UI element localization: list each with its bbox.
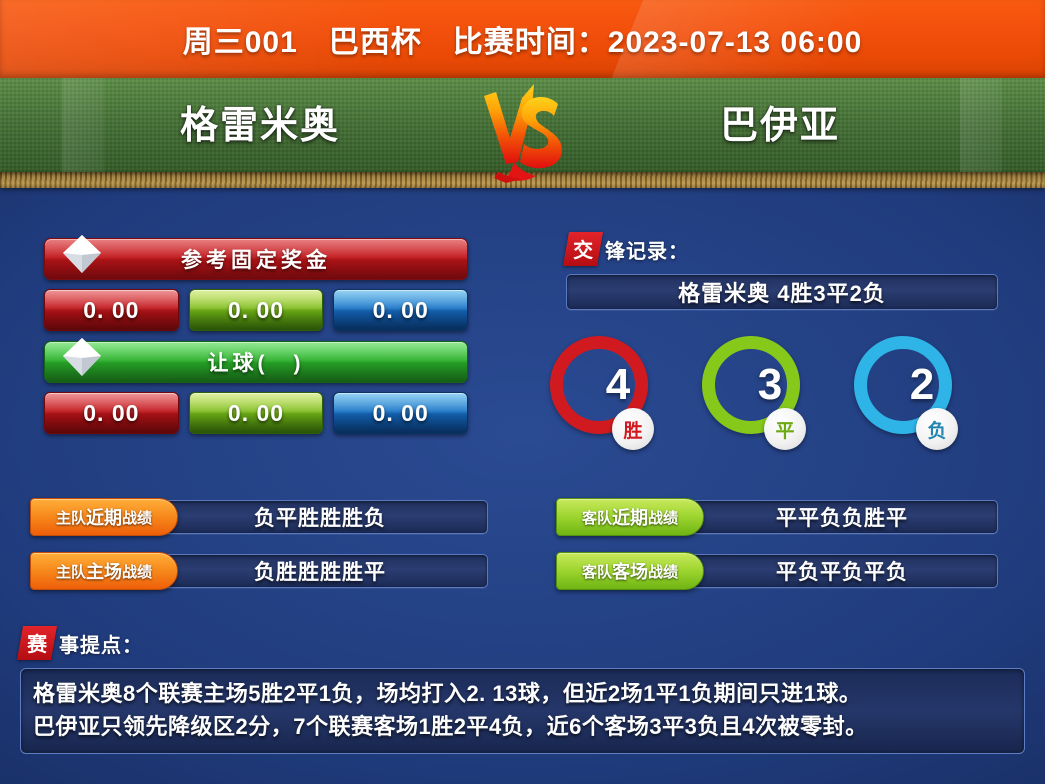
pitch-stripe-right [960,78,1002,172]
fixed-odds-row: 0. 00 0. 00 0. 00 [44,289,468,331]
away-recent-form-value: 平平负负胜平 [686,500,998,534]
home-venue-tag-prefix: 主队 [56,561,86,582]
h2h-rings: 4 胜 3 平 2 负 [540,336,1020,466]
home-recent-tag-suffix: 战绩 [122,507,152,528]
analysis-line-2: 巴伊亚只领先降级区2分，7个联赛客场1胜2平4负，近6个客场3平3负且4次被零封… [33,710,1012,743]
handicap-odds-title: 让球( ) [208,347,305,377]
analysis-section-text: 事提点： [59,629,143,658]
ring-badge-draw: 平 [764,408,806,450]
handicap-odds-header: 让球( ) [44,341,468,383]
home-team-name: 格雷米奥 [130,96,390,156]
away-venue-form-value: 平负平负平负 [686,554,998,588]
home-recent-tag-prefix: 主队 [56,507,86,528]
h2h-ring-draw: 3 平 [702,336,810,444]
home-venue-form-tag: 主队主场战绩 [30,552,178,590]
page-title: 周三001 巴西杯 比赛时间：2023-07-13 06:00 [183,17,863,61]
odds-panel: 参考固定奖金 0. 00 0. 00 0. 00 让球( ) 0. 00 0. … [44,238,468,444]
h2h-section-label: 交 锋记录： [566,234,998,264]
handicap-odds-draw[interactable]: 0. 00 [189,392,324,434]
away-recent-tag-suffix: 战绩 [648,507,678,528]
home-venue-tag-main: 主场 [86,558,122,584]
away-recent-form-tag: 客队近期战绩 [556,498,704,536]
away-venue-tag-suffix: 战绩 [648,561,678,582]
away-recent-tag-prefix: 客队 [582,507,612,528]
analysis-section: 赛 事提点： 格雷米奥8个联赛主场5胜2平1负，场均打入2. 13球，但近2场1… [20,628,1025,754]
away-venue-form-tag: 客队客场战绩 [556,552,704,590]
analysis-tag-badge: 赛 [17,626,57,660]
diamond-gem-icon [59,231,105,277]
handicap-odds-away[interactable]: 0. 00 [333,392,468,434]
fixed-odds-away[interactable]: 0. 00 [333,289,468,331]
away-form-section: 客队近期战绩 平平负负胜平 客队客场战绩 平负平负平负 [556,498,998,606]
match-preview-page: 周三001 巴西杯 比赛时间：2023-07-13 06:00 格雷米奥 巴伊亚 [0,0,1045,784]
pitch-stripe-left [62,78,104,172]
home-venue-form-row: 主队主场战绩 负胜胜胜胜平 [30,552,488,590]
home-form-section: 主队近期战绩 负平胜胜胜负 主队主场战绩 负胜胜胜胜平 [30,498,488,606]
home-recent-tag-main: 近期 [86,504,122,530]
away-venue-tag-prefix: 客队 [582,561,612,582]
vs-flame-icon [462,78,580,188]
handicap-odds-home[interactable]: 0. 00 [44,392,179,434]
ring-badge-win: 胜 [612,408,654,450]
fixed-odds-title: 参考固定奖金 [181,244,331,274]
head-to-head-panel: 交 锋记录： 格雷米奥 4胜3平2负 [566,234,998,310]
handicap-odds-row: 0. 00 0. 00 0. 00 [44,392,468,434]
h2h-tag-badge: 交 [563,232,603,266]
diamond-gem-icon [59,334,105,380]
home-venue-tag-suffix: 战绩 [122,561,152,582]
analysis-section-label: 赛 事提点： [20,628,1025,658]
away-venue-tag-main: 客场 [612,558,648,584]
home-venue-form-value: 负胜胜胜胜平 [152,554,488,588]
fixed-odds-header: 参考固定奖金 [44,238,468,280]
h2h-summary-bar: 格雷米奥 4胜3平2负 [566,274,998,310]
fixed-odds-home[interactable]: 0. 00 [44,289,179,331]
away-recent-form-row: 客队近期战绩 平平负负胜平 [556,498,998,536]
fixed-odds-draw[interactable]: 0. 00 [189,289,324,331]
home-recent-form-value: 负平胜胜胜负 [152,500,488,534]
home-recent-form-tag: 主队近期战绩 [30,498,178,536]
analysis-line-1: 格雷米奥8个联赛主场5胜2平1负，场均打入2. 13球，但近2场1平1负期间只进… [33,677,1012,710]
away-recent-tag-main: 近期 [612,504,648,530]
h2h-ring-loss: 2 负 [854,336,962,444]
home-recent-form-row: 主队近期战绩 负平胜胜胜负 [30,498,488,536]
h2h-ring-win: 4 胜 [550,336,658,444]
header-bar: 周三001 巴西杯 比赛时间：2023-07-13 06:00 [0,0,1045,78]
analysis-box: 格雷米奥8个联赛主场5胜2平1负，场均打入2. 13球，但近2场1平1负期间只进… [20,668,1025,754]
away-team-name: 巴伊亚 [650,96,910,156]
away-venue-form-row: 客队客场战绩 平负平负平负 [556,552,998,590]
h2h-section-text: 锋记录： [605,235,689,264]
ring-badge-loss: 负 [916,408,958,450]
